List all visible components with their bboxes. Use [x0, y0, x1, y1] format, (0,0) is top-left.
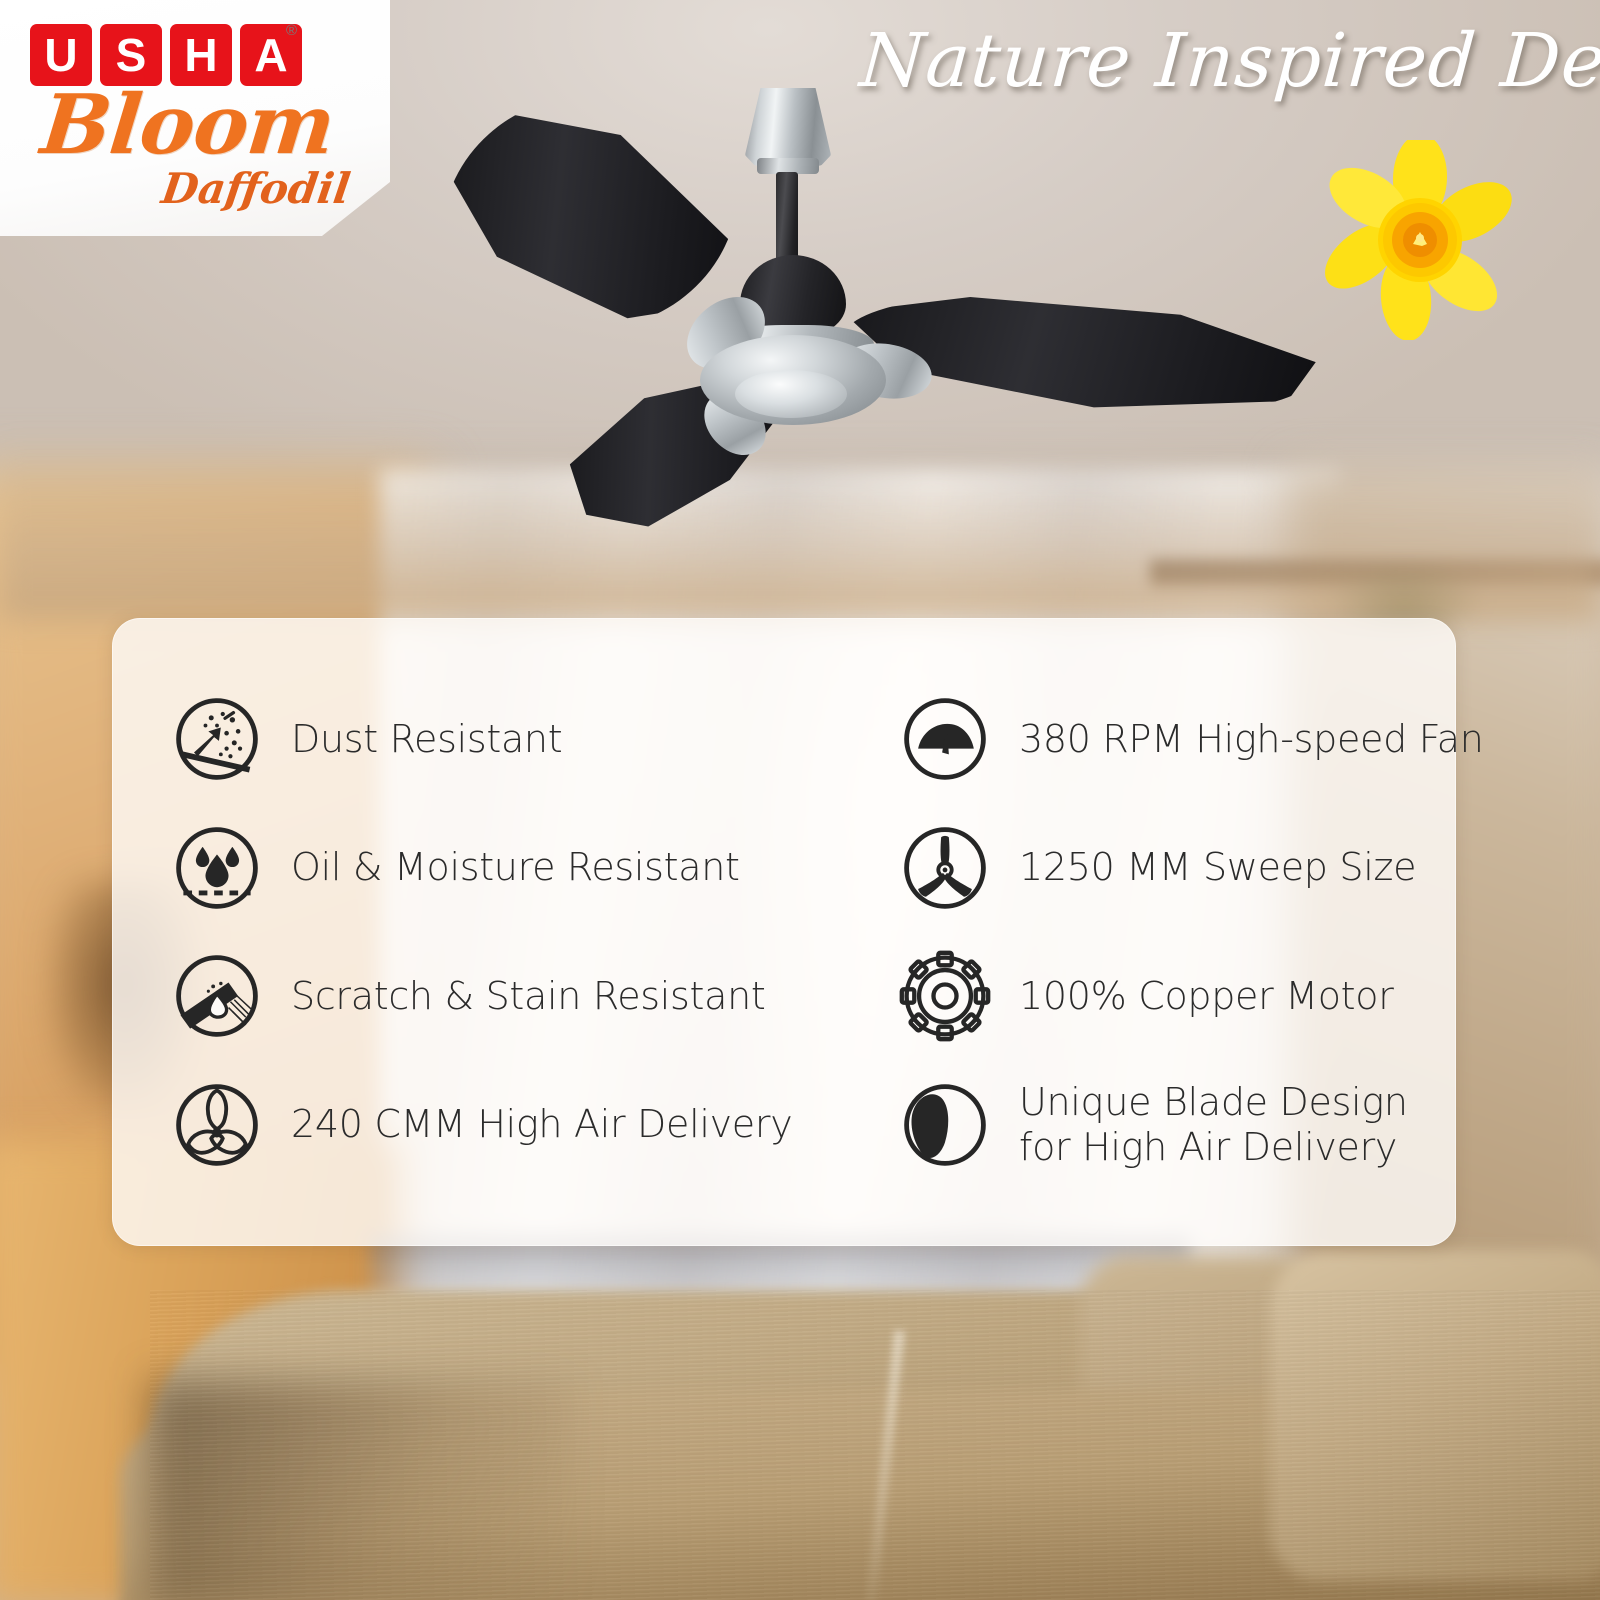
features-card: Dust Resistant 380 RPM High-speed Fan — [112, 618, 1456, 1246]
blade-design-icon — [897, 1077, 993, 1173]
product-line-name: Bloom — [38, 84, 338, 166]
fan-hub-cap — [735, 370, 847, 418]
oil-moisture-resistant-icon — [169, 820, 265, 916]
fan-blade-upper-left — [432, 85, 748, 340]
feature-label: Dust Resistant — [291, 717, 562, 762]
product-advertisement: U S H A ® Bloom Daffodil Nature Inspired… — [0, 0, 1600, 1600]
feature-scratch-stain-resistant: Scratch & Stain Resistant — [169, 932, 897, 1061]
feature-dust-resistant: Dust Resistant — [169, 675, 897, 804]
fan-canopy — [745, 88, 831, 166]
feature-label: Unique Blade Design for High Air Deliver… — [1019, 1080, 1408, 1170]
sweep-size-icon — [897, 820, 993, 916]
copper-motor-icon — [897, 948, 993, 1044]
speed-gauge-icon — [897, 691, 993, 787]
feature-air-delivery: 240 CMM High Air Delivery — [169, 1061, 897, 1190]
scratch-stain-resistant-icon — [169, 948, 265, 1044]
feature-label: 240 CMM High Air Delivery — [291, 1102, 792, 1147]
air-delivery-icon — [169, 1077, 265, 1173]
features-grid: Dust Resistant 380 RPM High-speed Fan — [113, 619, 1455, 1245]
daffodil-flower-icon — [1320, 140, 1520, 340]
headline-text: Nature Inspired Design — [857, 22, 1583, 102]
feature-high-speed: 380 RPM High-speed Fan — [897, 675, 1513, 804]
product-model-name: Daffodil — [159, 168, 353, 210]
feature-label: 1250 MM Sweep Size — [1019, 845, 1416, 890]
dust-resistant-icon — [169, 691, 265, 787]
feature-blade-design: Unique Blade Design for High Air Deliver… — [897, 1061, 1513, 1190]
registered-trademark-mark: ® — [286, 22, 297, 39]
feature-sweep-size: 1250 MM Sweep Size — [897, 804, 1513, 933]
feature-label: 100% Copper Motor — [1019, 974, 1394, 1019]
brand-logo-panel: U S H A ® Bloom Daffodil — [0, 0, 390, 236]
feature-label: 380 RPM High-speed Fan — [1019, 717, 1484, 762]
feature-oil-moisture-resistant: Oil & Moisture Resistant — [169, 804, 897, 933]
feature-copper-motor: 100% Copper Motor — [897, 932, 1513, 1061]
feature-label: Oil & Moisture Resistant — [291, 845, 740, 890]
feature-label: Scratch & Stain Resistant — [291, 974, 766, 1019]
sofa-fabric-texture — [150, 1290, 1600, 1600]
